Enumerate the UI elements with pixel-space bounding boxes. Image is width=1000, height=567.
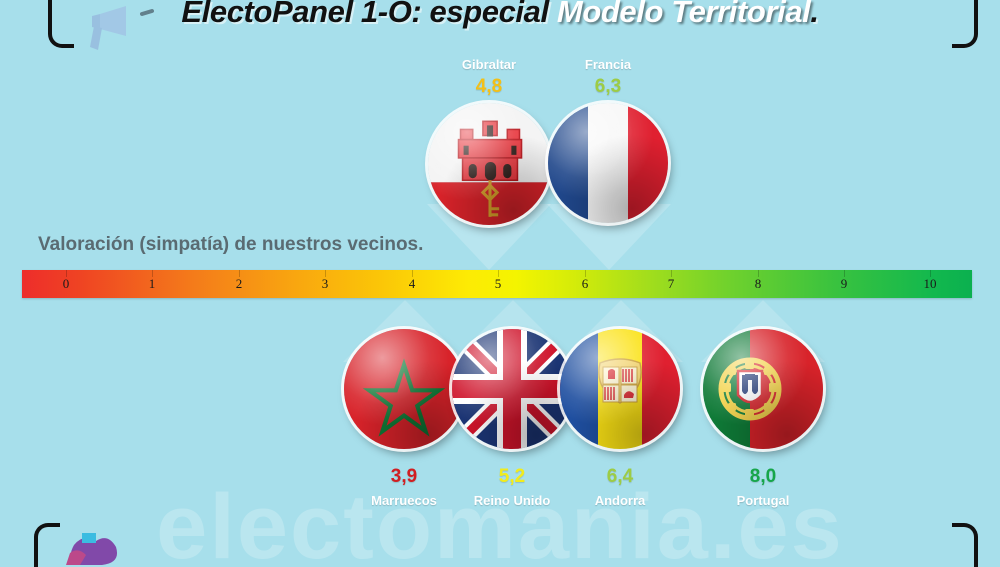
scale-tick-8: 8	[755, 276, 762, 292]
title-part-end: .	[810, 0, 818, 29]
country-name-francia: Francia	[585, 57, 631, 72]
flag-andorra-icon	[560, 329, 680, 449]
country-value-francia: 6,3	[595, 76, 621, 98]
country-name-marruecos: Marruecos	[371, 493, 437, 508]
country-value-andorra: 6,4	[607, 466, 633, 488]
scale-tick-7: 7	[668, 276, 675, 292]
country-name-reino-unido: Reino Unido	[474, 493, 551, 508]
flag-badge-marruecos[interactable]	[344, 329, 464, 449]
country-value-reino-unido: 5,2	[499, 466, 525, 488]
flag-badge-reino-unido[interactable]	[452, 329, 572, 449]
infographic-canvas: electomania.es ElectoPanel 1-O: especial…	[0, 0, 1000, 567]
flag-morocco-icon	[344, 329, 464, 449]
flag-badge-francia[interactable]	[548, 103, 668, 223]
title-part-light: Modelo Territorial	[557, 0, 810, 29]
scale-tick-0: 0	[63, 276, 70, 292]
scale-tick-10: 10	[924, 276, 937, 292]
scale-tick-2: 2	[236, 276, 243, 292]
scale-tick-4: 4	[409, 276, 416, 292]
flag-gibraltar-icon	[428, 103, 550, 225]
title-part-dark: ElectoPanel 1-O: especial	[181, 0, 557, 29]
flag-portugal-icon	[703, 329, 823, 449]
scale-tick-9: 9	[841, 276, 848, 292]
scale-tick-1: 1	[149, 276, 156, 292]
country-value-marruecos: 3,9	[391, 466, 417, 488]
flag-uk-icon	[452, 329, 572, 449]
flag-france-icon	[548, 103, 668, 223]
country-value-portugal: 8,0	[750, 466, 776, 488]
flag-badge-gibraltar[interactable]	[428, 103, 550, 225]
flag-badge-portugal[interactable]	[703, 329, 823, 449]
country-name-portugal: Portugal	[737, 493, 790, 508]
page-title: ElectoPanel 1-O: especial Modelo Territo…	[0, 0, 1000, 30]
valuation-scale-bar: 0 1 2 3 4 5 6 7 8 9 10	[22, 270, 972, 298]
scale-tick-3: 3	[322, 276, 329, 292]
scale-tick-5: 5	[495, 276, 502, 292]
logo-mark-icon	[52, 527, 126, 567]
scale-tick-6: 6	[582, 276, 589, 292]
chart-subtitle: Valoración (simpatía) de nuestros vecino…	[38, 234, 423, 256]
country-name-gibraltar: Gibraltar	[462, 57, 516, 72]
bracket-bottom-right	[952, 523, 978, 567]
flag-badge-andorra[interactable]	[560, 329, 680, 449]
country-name-andorra: Andorra	[595, 493, 646, 508]
country-value-gibraltar: 4,8	[476, 76, 502, 98]
